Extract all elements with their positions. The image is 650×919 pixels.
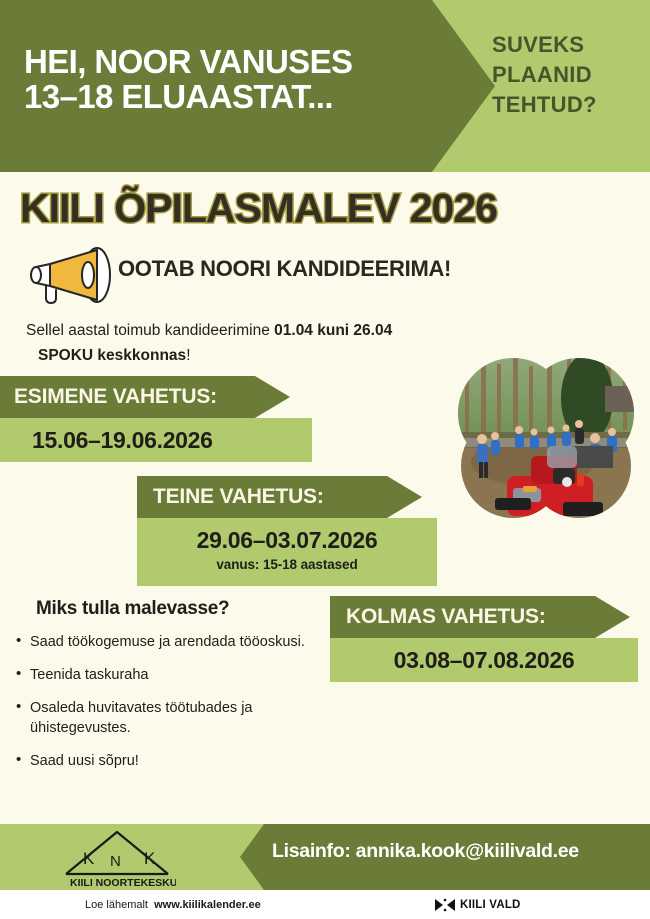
list-item: Teenida taskuraha — [12, 665, 324, 685]
shift-1-dates-block: 15.06–19.06.2026 — [0, 418, 312, 462]
header-headline: HEI, NOOR VANUSES 13–18 ELUAASTAT... — [24, 44, 444, 114]
header-side-line1: SUVEKS — [492, 30, 642, 60]
activity-photo — [455, 358, 635, 518]
list-item: Osaleda huvitavates töötubades ja ühiste… — [12, 698, 324, 738]
shift-3-dates: 03.08–07.08.2026 — [394, 647, 575, 673]
read-more-label: Loe lähemalt — [85, 899, 148, 911]
intro-platform: SPOKU keskkonnas — [38, 347, 186, 364]
svg-text:KIILI NOORTEKESKUS: KIILI NOORTEKESKUS — [70, 877, 176, 888]
municipality-name: KIILI VALD — [460, 899, 521, 911]
intro-end: ! — [186, 347, 190, 364]
poster-root: HEI, NOOR VANUSES 13–18 ELUAASTAT... SUV… — [0, 0, 650, 919]
shift-3-dates-block: 03.08–07.08.2026 — [330, 638, 638, 682]
kiili-vald-mark-icon — [434, 897, 456, 913]
header-banner: HEI, NOOR VANUSES 13–18 ELUAASTAT... SUV… — [0, 0, 650, 172]
shift-3-label: KOLMAS VAHETUS: — [330, 596, 630, 638]
header-side-line2: PLAANID — [492, 60, 642, 90]
shift-2-age-note: vanus: 15-18 aastased — [137, 557, 437, 572]
shift-2-dates: 29.06–03.07.2026 — [197, 527, 378, 553]
shift-2-dates-block: 29.06–03.07.2026 vanus: 15-18 aastased — [137, 518, 437, 586]
svg-text:K: K — [144, 849, 156, 868]
list-item: Saad uusi sõpru! — [12, 751, 324, 771]
svg-text:N: N — [110, 853, 121, 870]
page-title: KIILI ÕPILASMALEV 2026 — [20, 186, 635, 231]
shift-2-label: TEINE VAHETUS: — [137, 476, 422, 518]
why-join-title: Miks tulla malevasse? — [36, 598, 229, 620]
header-headline-line1: HEI, NOOR VANUSES — [24, 43, 352, 80]
intro-text: Sellel aastal toimub kandideerimine — [26, 322, 274, 339]
why-join-list: Saad töökogemuse ja arendada tööoskusi. … — [12, 632, 324, 784]
megaphone-icon — [24, 246, 119, 304]
read-more: Loe lähemalt www.kiilikalender.ee — [85, 899, 261, 911]
shift-1-dates: 15.06–19.06.2026 — [32, 427, 213, 453]
read-more-url[interactable]: www.kiilikalender.ee — [154, 899, 261, 911]
kiili-noortekeskus-logo: K N K KIILI NOORTEKESKUS — [58, 826, 176, 888]
contact-email[interactable]: Lisainfo: annika.kook@kiilivald.ee — [272, 840, 642, 863]
list-item: Saad töökogemuse ja arendada tööoskusi. — [12, 632, 324, 652]
header-side-question: SUVEKS PLAANID TEHTUD? — [492, 30, 642, 120]
shift-1-label: ESIMENE VAHETUS: — [0, 376, 290, 418]
svg-text:K: K — [83, 849, 95, 868]
subtitle: OOTAB NOORI KANDIDEERIMA! — [118, 256, 598, 282]
header-side-line3: TEHTUD? — [492, 90, 642, 120]
intro-paragraph: Sellel aastal toimub kandideerimine 01.0… — [26, 318, 456, 368]
header-headline-line2: 13–18 ELUAASTAT... — [24, 79, 444, 114]
intro-dates: 01.04 kuni 26.04 — [274, 322, 392, 339]
